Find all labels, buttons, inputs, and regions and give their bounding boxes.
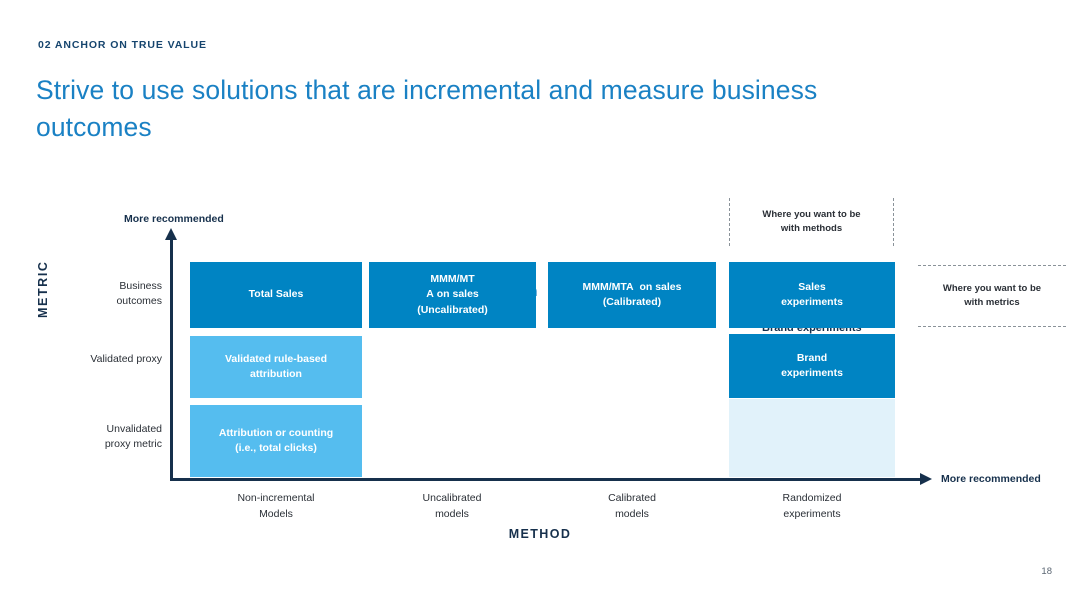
y-axis-direction-label: More recommended bbox=[124, 213, 224, 225]
y-axis-line bbox=[170, 238, 173, 480]
chart-cell-label: MMM/MTA on sales(Uncalibrated) bbox=[417, 272, 488, 318]
annotation-metrics-line1: Where you want to be bbox=[943, 283, 1041, 294]
annotation-metrics: Where you want to be with metrics bbox=[918, 265, 1066, 327]
y-tick-label: Validated proxy bbox=[66, 352, 162, 367]
y-tick-label: Unvalidatedproxy metric bbox=[66, 422, 162, 452]
chart-cell-label: Validated rule-basedattribution bbox=[225, 352, 327, 382]
x-axis-arrow-icon bbox=[920, 473, 932, 485]
chart-cell-label: Attribution or counting(i.e., total clic… bbox=[219, 426, 333, 456]
page-title: Strive to use solutions that are increme… bbox=[36, 72, 936, 145]
y-axis-arrow-icon bbox=[165, 228, 177, 240]
x-axis-line bbox=[170, 478, 922, 481]
x-tick-3: Randomizedexperiments bbox=[727, 491, 897, 523]
y-tick-label: Businessoutcomes bbox=[66, 279, 162, 309]
annotation-metrics-text: Where you want to be with metrics bbox=[943, 282, 1041, 311]
chart-cell-mmm-mta-calibrated: MMM/MTA on sales(Calibrated) bbox=[548, 262, 716, 328]
slide-eyebrow: 02 ANCHOR ON TRUE VALUE bbox=[38, 39, 207, 51]
annotation-methods-text: Where you want to be with methods bbox=[762, 208, 860, 237]
chart-cell-mmm-mta-uncalibrated: MMM/MTA on sales(Uncalibrated) bbox=[369, 262, 536, 328]
chart-cell-label: Brandexperiments bbox=[781, 351, 843, 381]
chart-canvas: 02 ANCHOR ON TRUE VALUE Strive to use so… bbox=[0, 0, 1080, 608]
annotation-methods-line1: Where you want to be bbox=[762, 209, 860, 220]
chart-cell-total-sales: Total Sales bbox=[190, 262, 362, 328]
chart-cell-label: Salesexperiments bbox=[781, 280, 843, 310]
x-tick-2: Calibratedmodels bbox=[547, 491, 717, 523]
chart-cell-validated-rule-based-attribution: Validated rule-basedattribution bbox=[190, 336, 362, 398]
annotation-metrics-line2: with metrics bbox=[964, 297, 1019, 308]
chart-cell-sales-experiments: Salesexperiments bbox=[729, 262, 895, 328]
x-axis-direction-label: More recommended bbox=[941, 473, 1041, 485]
chart-cell-randomized-unvalidated-blank bbox=[729, 399, 895, 477]
chart-cell-label: MMM/MTA on sales(Calibrated) bbox=[583, 280, 682, 310]
x-tick-0: Non-incrementalModels bbox=[191, 491, 361, 523]
x-tick-1: Uncalibratedmodels bbox=[367, 491, 537, 523]
x-axis-title: METHOD bbox=[0, 527, 1080, 541]
chart-cell-label: Total Sales bbox=[249, 287, 304, 302]
chart-cell-attribution-or-counting: Attribution or counting(i.e., total clic… bbox=[190, 405, 362, 477]
annotation-methods: Where you want to be with methods bbox=[729, 198, 894, 246]
chart-cell-brand-experiments: Brandexperiments bbox=[729, 334, 895, 398]
y-axis-title: METRIC bbox=[36, 260, 50, 318]
annotation-methods-line2: with methods bbox=[781, 223, 842, 234]
page-number: 18 bbox=[1041, 566, 1052, 577]
